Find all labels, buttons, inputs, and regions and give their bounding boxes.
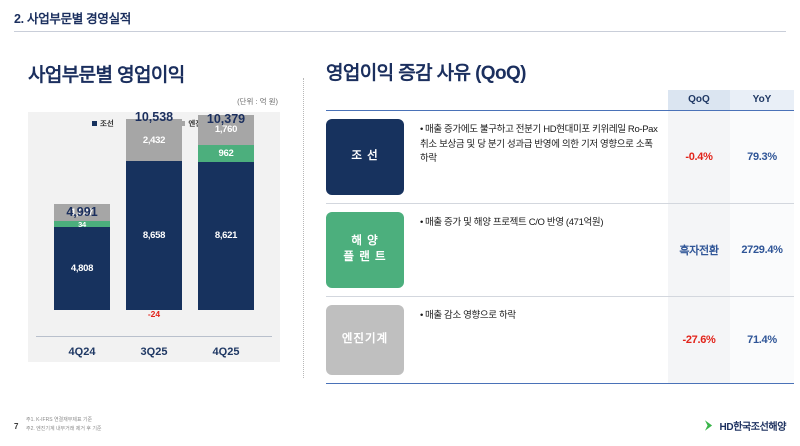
footnote: 주2. 엔진기계 내부거래 제거 후 기준 [26, 425, 102, 434]
legend-item-0: 조선 [92, 118, 114, 129]
chart-panel: 사업부문별 영업이익 (단위 : 억 원) 조선해양플랜트엔진기계 1,0273… [0, 38, 300, 398]
category-cell: 해 양플 랜 트 [326, 204, 412, 296]
chart-panel-title: 사업부문별 영업이익 [28, 60, 185, 87]
table-row: 조 선•매출 증가에도 불구하고 전분기 HD현대미포 키위레일 Ro-Pax … [326, 111, 794, 203]
description-text: 매출 증가에도 불구하고 전분기 HD현대미포 키위레일 Ro-Pax 취소 보… [420, 124, 658, 164]
column-header-yoy: YoY [730, 90, 794, 110]
x-axis-label-4Q24: 4Q24 [54, 346, 110, 358]
table-body: 조 선•매출 증가에도 불구하고 전분기 HD현대미포 키위레일 Ro-Pax … [326, 110, 794, 384]
description-text: 매출 감소 영향으로 하락 [425, 310, 516, 321]
column-header-qoq: QoQ [668, 90, 730, 110]
chart-baseline [36, 336, 272, 337]
reasons-table: QoQ YoY 조 선•매출 증가에도 불구하고 전분기 HD현대미포 키위레일… [326, 90, 794, 384]
yoy-value: 2729.4% [730, 204, 794, 296]
table-row: 해 양플 랜 트•매출 증가 및 해양 프로젝트 C/O 반영 (471억원)흑… [326, 203, 794, 296]
bar-segment-엔진기계: 2,432 [126, 119, 182, 161]
bullet-icon: • [420, 217, 423, 228]
description-cell: •매출 증가에도 불구하고 전분기 HD현대미포 키위레일 Ro-Pax 취소 … [412, 111, 668, 203]
panel-divider [303, 78, 304, 378]
yoy-value: 71.4% [730, 297, 794, 383]
qoq-value: 흑자전환 [668, 204, 730, 296]
company-logo: HD한국조선해양 [703, 418, 786, 433]
chart-unit-label: (단위 : 억 원) [237, 96, 278, 107]
category-badge: 조 선 [326, 119, 404, 195]
reasons-panel-title: 영업이익 증감 사유 (QoQ) [326, 58, 526, 85]
bar-segment-label: 8,621 [215, 230, 237, 241]
x-axis-label-3Q25: 3Q25 [126, 346, 182, 358]
qoq-value: -27.6% [668, 297, 730, 383]
page-number: 7 [14, 422, 18, 431]
bar-total-label: 10,538 [135, 110, 173, 124]
yoy-value: 79.3% [730, 111, 794, 203]
bar-segment-해양플랜트: 962 [198, 145, 254, 162]
bar-total-label: 4,991 [66, 205, 97, 219]
qoq-value: -0.4% [668, 111, 730, 203]
operating-profit-chart: 조선해양플랜트엔진기계 1,027344,8084,9912,4328,6581… [28, 112, 280, 362]
bar-negative-label: -24 [148, 309, 160, 319]
bar-segment-label: 8,658 [143, 230, 165, 241]
category-badge: 엔진기계 [326, 305, 404, 375]
footnote: 주1. K-IFRS 연결재무제표 기준 [26, 416, 102, 425]
reasons-panel: 영업이익 증감 사유 (QoQ) QoQ YoY 조 선•매출 증가에도 불구하… [318, 38, 800, 398]
bar-segment-조선: 8,658 [126, 161, 182, 310]
bar-segment-label: 2,432 [143, 135, 165, 146]
x-axis-label-4Q25: 4Q25 [198, 346, 254, 358]
footnotes: 주1. K-IFRS 연결재무제표 기준주2. 엔진기계 내부거래 제거 후 기… [26, 416, 102, 433]
header-divider [14, 31, 786, 32]
bar-segment-label: 4,808 [71, 263, 93, 274]
bar-total-label: 10,379 [207, 112, 245, 126]
bar-segment-조선: 8,621 [198, 162, 254, 310]
table-row: 엔진기계•매출 감소 영향으로 하락-27.6%71.4% [326, 296, 794, 384]
legend-label: 조선 [100, 118, 114, 129]
bar-segment-조선: 4,808 [54, 227, 110, 310]
bar-segment-label: 962 [219, 148, 234, 159]
chart-plot: 1,027344,8084,9912,4328,65810,538-241,76… [28, 138, 280, 336]
bar-group: 2,4328,65810,538-24 [126, 119, 182, 310]
bullet-icon: • [420, 124, 423, 135]
category-cell: 조 선 [326, 111, 412, 203]
bar-group: 1,027344,8084,991 [54, 204, 110, 310]
bullet-icon: • [420, 310, 423, 321]
logo-text: HD한국조선해양 [720, 418, 786, 433]
description-cell: •매출 증가 및 해양 프로젝트 C/O 반영 (471억원) [412, 204, 668, 296]
chart-x-axis: 4Q243Q254Q25 [28, 338, 280, 360]
description-cell: •매출 감소 영향으로 하락 [412, 297, 668, 383]
chevron-logo-icon [703, 419, 716, 432]
page-title: 2. 사업부문별 경영실적 [14, 8, 131, 27]
description-text: 매출 증가 및 해양 프로젝트 C/O 반영 (471억원) [425, 217, 603, 228]
table-header-row: QoQ YoY [326, 90, 794, 110]
category-cell: 엔진기계 [326, 297, 412, 383]
slide: 2. 사업부문별 경영실적 사업부문별 영업이익 (단위 : 억 원) 조선해양… [0, 0, 800, 446]
legend-swatch-icon [92, 121, 97, 126]
category-badge: 해 양플 랜 트 [326, 212, 404, 288]
bar-group: 1,7609628,62110,379 [198, 115, 254, 310]
